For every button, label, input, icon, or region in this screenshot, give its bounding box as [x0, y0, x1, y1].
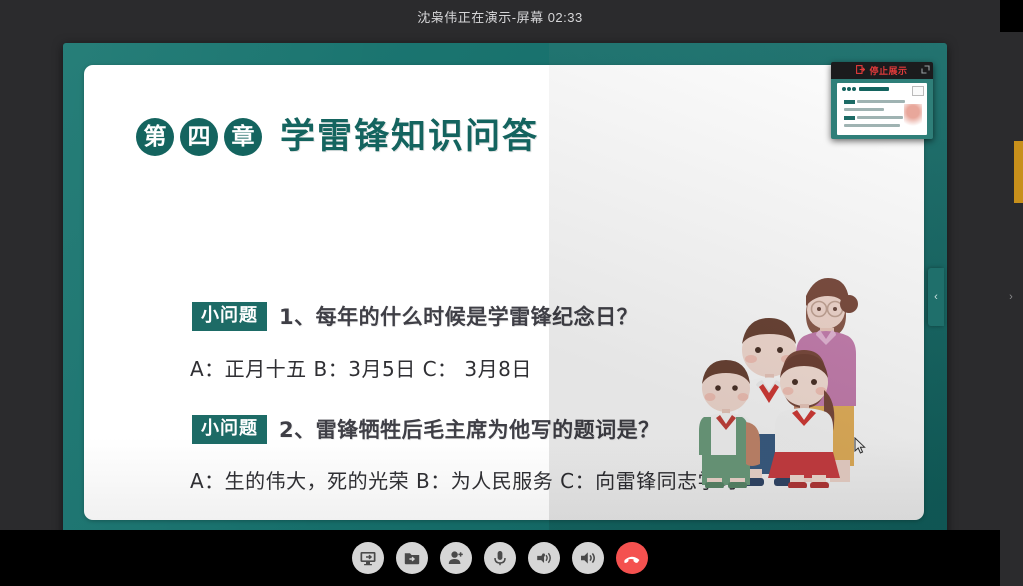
- presentation-status-title: 沈枭伟正在演示-屏幕 02:33: [417, 7, 582, 26]
- presenter-preview-slide: [837, 83, 927, 135]
- speaker-icon: [579, 549, 597, 567]
- meeting-window: 沈枭伟正在演示-屏幕 02:33 第 四 章 学雷锋知识问答 小问题 1、每年的…: [0, 0, 1023, 586]
- presenter-preview-window[interactable]: 停止展示: [831, 62, 933, 139]
- question-tag-2: 小问题: [192, 415, 267, 444]
- phone-hangup-icon: [623, 549, 641, 567]
- folder-share-icon: [403, 549, 421, 567]
- speaker-button[interactable]: [572, 542, 604, 574]
- students-teacher-illustration: [694, 260, 879, 488]
- question-tag-1: 小问题: [192, 302, 267, 331]
- share-screen-button[interactable]: [352, 542, 384, 574]
- meeting-toolbar: [0, 530, 1000, 586]
- stop-presenting-label: 停止展示: [869, 64, 907, 77]
- slide-heading: 学雷锋知识问答: [280, 120, 539, 155]
- exit-icon: [856, 65, 865, 76]
- chevron-left-icon: ‹: [934, 291, 938, 303]
- person-add-icon: [447, 549, 465, 567]
- chapter-badge-3: 章: [224, 118, 262, 156]
- question-text-1: 1、每年的什么时候是学雷锋纪念日？: [279, 301, 638, 331]
- slide-page: 第 四 章 学雷锋知识问答 小问题 1、每年的什么时候是学雷锋纪念日？ A：正月…: [84, 65, 924, 520]
- shared-screen-slide-frame[interactable]: 第 四 章 学雷锋知识问答 小问题 1、每年的什么时候是学雷锋纪念日？ A：正月…: [63, 43, 947, 546]
- add-participant-button[interactable]: [440, 542, 472, 574]
- window-title-bar: 沈枭伟正在演示-屏幕 02:33: [0, 0, 1000, 32]
- slide-title: 第 四 章 学雷锋知识问答: [136, 118, 539, 156]
- collapse-panel-left-button[interactable]: ‹: [928, 268, 944, 326]
- expand-icon[interactable]: [921, 65, 930, 76]
- answer-options-1: A：正月十五 B：3月5日 C： 3月8日: [190, 353, 532, 382]
- share-file-button[interactable]: [396, 542, 428, 574]
- question-row-1: 小问题 1、每年的什么时候是学雷锋纪念日？: [192, 301, 638, 331]
- monitor-share-icon: [359, 549, 377, 567]
- answer-options-2: A：生的伟大，死的光荣 B：为人民服务 C：向雷锋同志学习: [190, 465, 739, 494]
- microphone-icon: [491, 549, 509, 567]
- question-text-2: 2、雷锋牺牲后毛主席为他写的题词是？: [279, 414, 660, 444]
- chevron-right-icon: ›: [1009, 291, 1013, 303]
- chapter-badge-1: 第: [136, 118, 174, 156]
- microphone-button[interactable]: [484, 542, 516, 574]
- question-row-2: 小问题 2、雷锋牺牲后毛主席为他写的题词是？: [192, 414, 660, 444]
- chapter-badge-2: 四: [180, 118, 218, 156]
- share-audio-button[interactable]: [528, 542, 560, 574]
- presenter-preview-toolbar[interactable]: 停止展示: [831, 62, 933, 79]
- expand-panel-right-button[interactable]: ›: [1004, 268, 1018, 326]
- right-accent-bar: [1014, 141, 1023, 203]
- meeting-stage: 沈枭伟正在演示-屏幕 02:33 第 四 章 学雷锋知识问答 小问题 1、每年的…: [0, 0, 1000, 586]
- hangup-button[interactable]: [616, 542, 648, 574]
- audio-share-icon: [535, 549, 553, 567]
